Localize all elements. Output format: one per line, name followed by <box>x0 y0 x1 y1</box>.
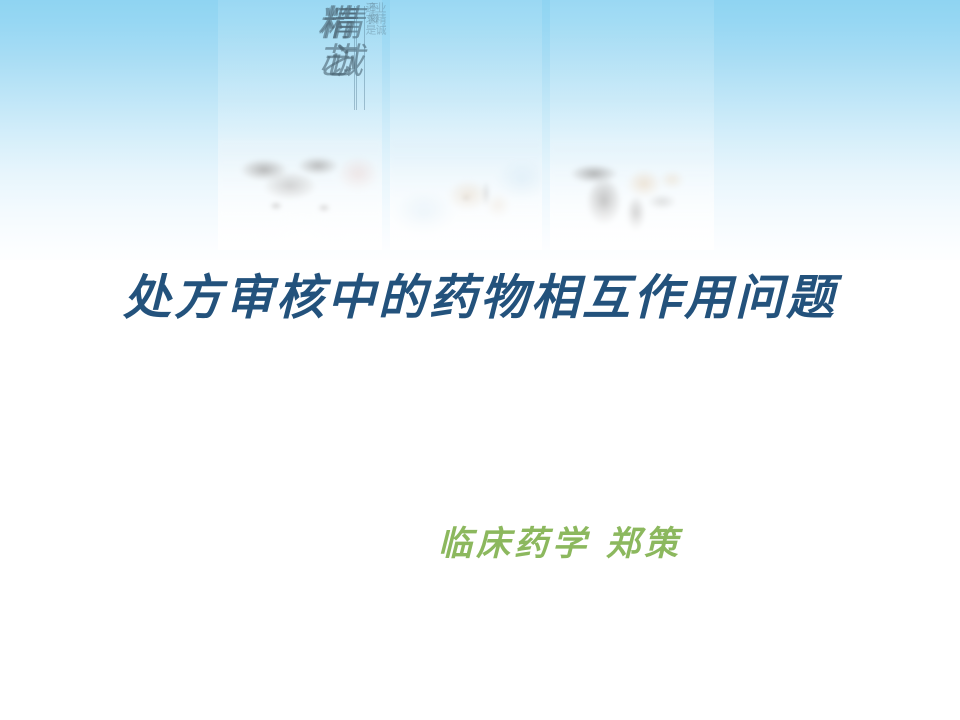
banner-panel-3 <box>550 0 714 250</box>
calligraphy-motto-3: 精心 <box>308 4 354 80</box>
slide-title: 处方审核中的药物相互作用问题 <box>0 258 960 328</box>
title-slide: 精诚 业精诚 精艺 追求是 精心 不懈 处方审核中的药物相互作用问题 临床药学 … <box>0 0 960 720</box>
panel-white-wash <box>550 0 714 250</box>
calligraphy-rule-3 <box>356 6 357 110</box>
white-background-lower <box>0 260 960 720</box>
calligraphy-caption-3: 不懈 <box>362 2 378 24</box>
calligraphy-rule-2 <box>354 6 355 110</box>
slide-subtitle-author: 临床药学 郑策 <box>0 516 960 565</box>
panel-white-wash <box>390 0 542 250</box>
banner-panel-2 <box>390 0 542 250</box>
banner-photo-strip: 精诚 业精诚 精艺 追求是 精心 不懈 <box>218 0 714 250</box>
